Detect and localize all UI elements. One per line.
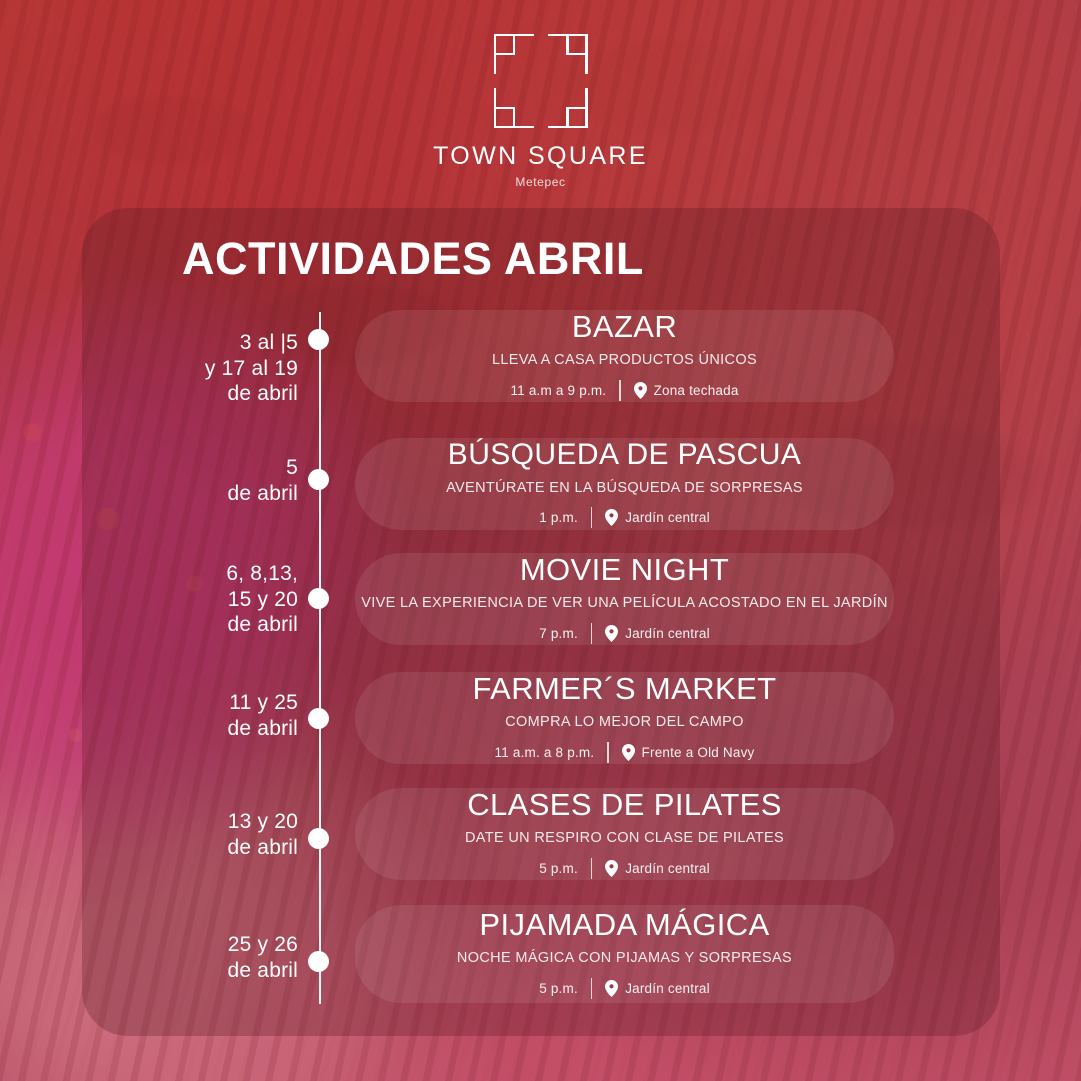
event-date-label: 25 y 26de abril [120, 932, 298, 983]
event-date-line: 5 [120, 455, 298, 481]
event-card[interactable]: MOVIE NIGHTVIVE LA EXPERIENCIA DE VER UN… [355, 553, 894, 645]
event-date-line: de abril [120, 381, 298, 407]
timeline-dot [308, 588, 329, 609]
event-time: 1 p.m. [539, 511, 591, 525]
timeline-dot [308, 708, 329, 729]
event-meta: 11 a.m. a 8 p.m.Frente a Old Navy [495, 742, 755, 763]
event-card[interactable]: CLASES DE PILATESDATE UN RESPIRO CON CLA… [355, 788, 894, 880]
event-location-label: Zona techada [654, 384, 739, 398]
event-date-label: 6, 8,13,15 y 20de abril [120, 561, 298, 638]
event-meta: 5 p.m.Jardín central [539, 978, 710, 999]
event-date-line: de abril [120, 612, 298, 638]
map-pin-icon [622, 744, 635, 761]
event-subtitle: DATE UN RESPIRO CON CLASE DE PILATES [465, 831, 784, 846]
event-date-line: 3 al |5 [120, 330, 298, 356]
map-pin-icon [605, 980, 618, 997]
event-card[interactable]: BAZARLLEVA A CASA PRODUCTOS ÚNICOS11 a.m… [355, 310, 894, 402]
event-subtitle: NOCHE MÁGICA CON PIJAMAS Y SORPRESAS [457, 951, 792, 966]
event-location: Jardín central [592, 509, 710, 526]
event-date-line: de abril [120, 835, 298, 861]
event-location-label: Frente a Old Navy [642, 746, 755, 760]
event-date-line: de abril [120, 958, 298, 984]
event-subtitle: VIVE LA EXPERIENCIA DE VER UNA PELÍCULA … [361, 596, 888, 611]
event-time: 11 a.m a 9 p.m. [510, 384, 619, 398]
event-date-line: 13 y 20 [120, 809, 298, 835]
event-date-line: 11 y 25 [120, 690, 298, 716]
event-time: 5 p.m. [539, 862, 591, 876]
event-subtitle: AVENTÚRATE EN LA BÚSQUEDA DE SORPRESAS [446, 481, 803, 496]
event-location-label: Jardín central [625, 982, 710, 996]
event-meta: 11 a.m a 9 p.m.Zona techada [510, 380, 738, 401]
event-time: 5 p.m. [539, 982, 591, 996]
map-pin-icon [605, 625, 618, 642]
event-title: MOVIE NIGHT [520, 554, 729, 585]
event-date-line: 6, 8,13, [120, 561, 298, 587]
event-date-label: 13 y 20de abril [120, 809, 298, 860]
event-title: BAZAR [572, 311, 677, 342]
event-location: Jardín central [592, 625, 710, 642]
event-meta: 1 p.m.Jardín central [539, 507, 710, 528]
event-title: BÚSQUEDA DE PASCUA [448, 440, 801, 470]
map-pin-icon [605, 860, 618, 877]
event-meta: 5 p.m.Jardín central [539, 858, 710, 879]
event-date-label: 3 al |5y 17 al 19de abril [120, 330, 298, 407]
event-title: CLASES DE PILATES [467, 789, 782, 820]
map-pin-icon [605, 509, 618, 526]
event-time: 11 a.m. a 8 p.m. [495, 746, 608, 760]
event-location: Jardín central [592, 980, 710, 997]
timeline-dot [308, 828, 329, 849]
event-date-label: 11 y 25de abril [120, 690, 298, 741]
events-timeline: 3 al |5y 17 al 19de abrilBAZARLLEVA A CA… [0, 0, 1081, 1081]
poster-canvas: TOWN SQUARE Metepec ACTIVIDADES ABRIL 3 … [0, 0, 1081, 1081]
map-pin-icon [634, 382, 647, 399]
event-location-label: Jardín central [625, 627, 710, 641]
event-title: FARMER´S MARKET [473, 673, 777, 704]
event-date-label: 5de abril [120, 455, 298, 506]
event-card[interactable]: BÚSQUEDA DE PASCUAAVENTÚRATE EN LA BÚSQU… [355, 438, 894, 530]
event-date-line: de abril [120, 481, 298, 507]
event-card[interactable]: FARMER´S MARKETCOMPRA LO MEJOR DEL CAMPO… [355, 672, 894, 764]
timeline-dot [308, 469, 329, 490]
timeline-dot [308, 329, 329, 350]
event-date-line: 25 y 26 [120, 932, 298, 958]
event-title: PIJAMADA MÁGICA [479, 909, 769, 940]
timeline-dot [308, 951, 329, 972]
event-subtitle: LLEVA A CASA PRODUCTOS ÚNICOS [492, 353, 757, 368]
event-date-line: y 17 al 19 [120, 356, 298, 382]
event-time: 7 p.m. [539, 627, 591, 641]
event-subtitle: COMPRA LO MEJOR DEL CAMPO [505, 715, 744, 730]
event-location: Zona techada [621, 382, 739, 399]
event-meta: 7 p.m.Jardín central [539, 623, 710, 644]
event-date-line: 15 y 20 [120, 587, 298, 613]
event-card[interactable]: PIJAMADA MÁGICANOCHE MÁGICA CON PIJAMAS … [355, 905, 894, 1003]
event-location: Jardín central [592, 860, 710, 877]
event-location-label: Jardín central [625, 511, 710, 525]
event-location-label: Jardín central [625, 862, 710, 876]
event-date-line: de abril [120, 716, 298, 742]
event-location: Frente a Old Navy [609, 744, 755, 761]
